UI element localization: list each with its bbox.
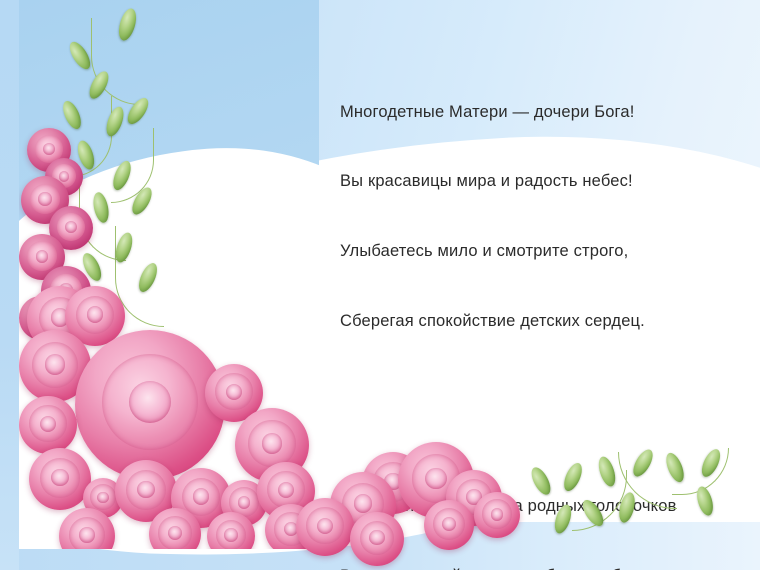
poem-line: Постоянно средь звона родных голосочков [340,495,740,518]
rose-icon [19,396,77,454]
rose-icon [265,504,317,549]
poem-line: Сберегая спокойствие детских сердец. [340,310,740,333]
poem-text: Многодетные Матери — дочери Бога! Вы кра… [340,8,740,570]
poem-line: Вы красавицы мира и радость небес! [340,170,740,193]
poem-stanza: Постоянно средь звона родных голосочков … [340,449,740,570]
rose-icon-large [75,330,225,480]
poem-line: Многодетные Матери — дочери Бога! [340,101,740,124]
rose-photo-panel [19,0,319,549]
left-edge-blue-strip [0,0,19,570]
rose-icon [29,448,91,510]
poem-line: Улыбаетесь мило и смотрите строго, [340,240,740,263]
poem-line: Вы несете свой подвиг любви и добра, [340,565,740,570]
greeting-card-slide: Многодетные Матери — дочери Бога! Вы кра… [0,0,760,570]
poem-stanza: Многодетные Матери — дочери Бога! Вы кра… [340,54,740,379]
